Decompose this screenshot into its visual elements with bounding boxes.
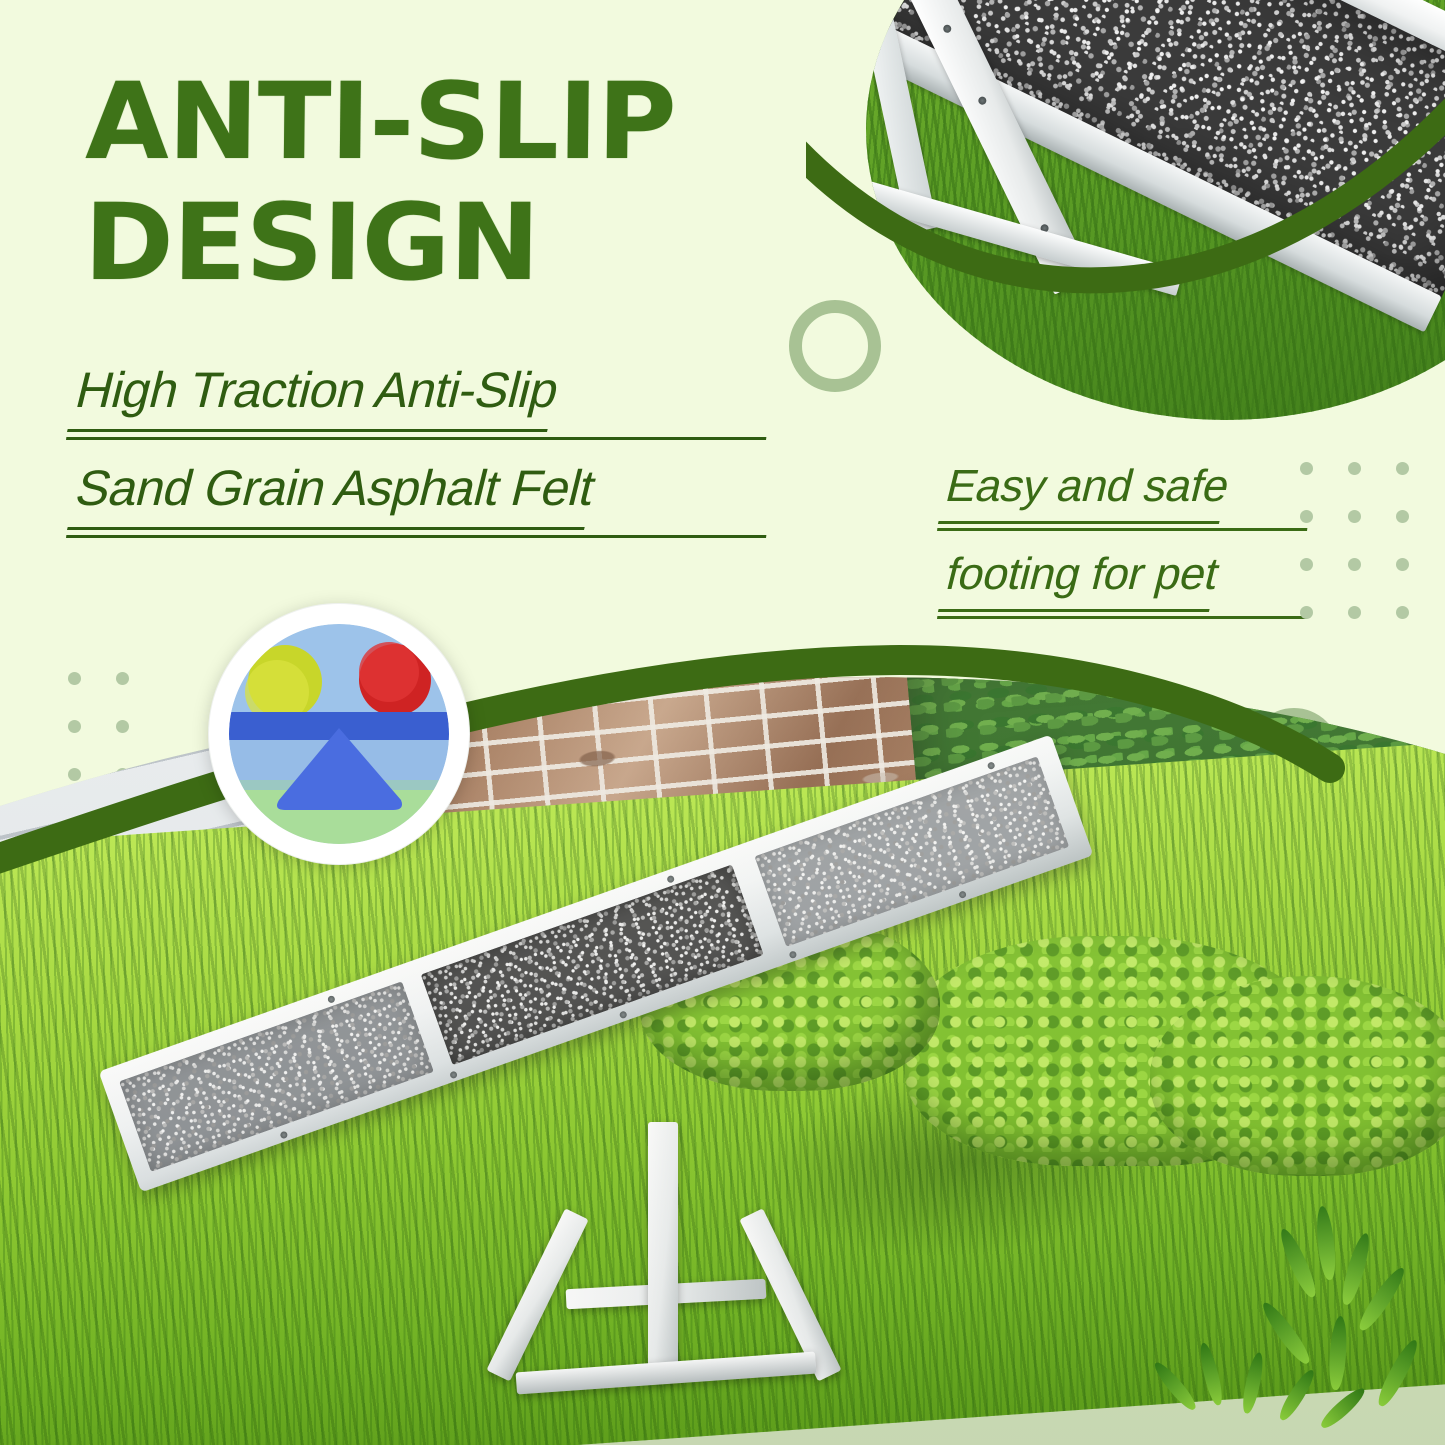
- subtitle-row-1: High Traction Anti-Slip: [66, 356, 776, 440]
- feature-caption: Easy and safe footing for pet: [937, 455, 1307, 631]
- subtitle-line-1: High Traction Anti-Slip: [67, 356, 566, 432]
- seesaw-center-post: [648, 1122, 678, 1380]
- caption-row-2: footing for pet: [937, 543, 1316, 619]
- inset-photo-anti-slip-closeup: [806, 0, 1445, 440]
- caption-line-1: Easy and safe: [938, 455, 1236, 524]
- product-feature-banner: ANTI-SLIP DESIGN High Traction Anti-Slip…: [0, 0, 1445, 1445]
- product-seesaw: [120, 898, 1180, 1318]
- seesaw-badge: [205, 600, 473, 868]
- photo-foreground-shrub: [1150, 1336, 1410, 1445]
- seesaw-base: [510, 1156, 840, 1386]
- inset-photo-clip: [806, 0, 1445, 440]
- subtitle-row-2: Sand Grain Asphalt Felt: [66, 454, 776, 538]
- headline-line-2: DESIGN: [83, 183, 819, 304]
- caption-row-1: Easy and safe: [937, 455, 1316, 531]
- photo-bush-far-right: [1150, 976, 1445, 1176]
- inset-photo-image: [806, 0, 1445, 440]
- headline-line-1: ANTI-SLIP: [85, 62, 821, 183]
- subtitle-line-2: Sand Grain Asphalt Felt: [67, 454, 602, 530]
- page-title: ANTI-SLIP DESIGN: [83, 62, 820, 304]
- subtitle: High Traction Anti-Slip Sand Grain Aspha…: [66, 356, 766, 552]
- dot-grid-right: [1300, 462, 1444, 654]
- caption-line-2: footing for pet: [938, 543, 1226, 612]
